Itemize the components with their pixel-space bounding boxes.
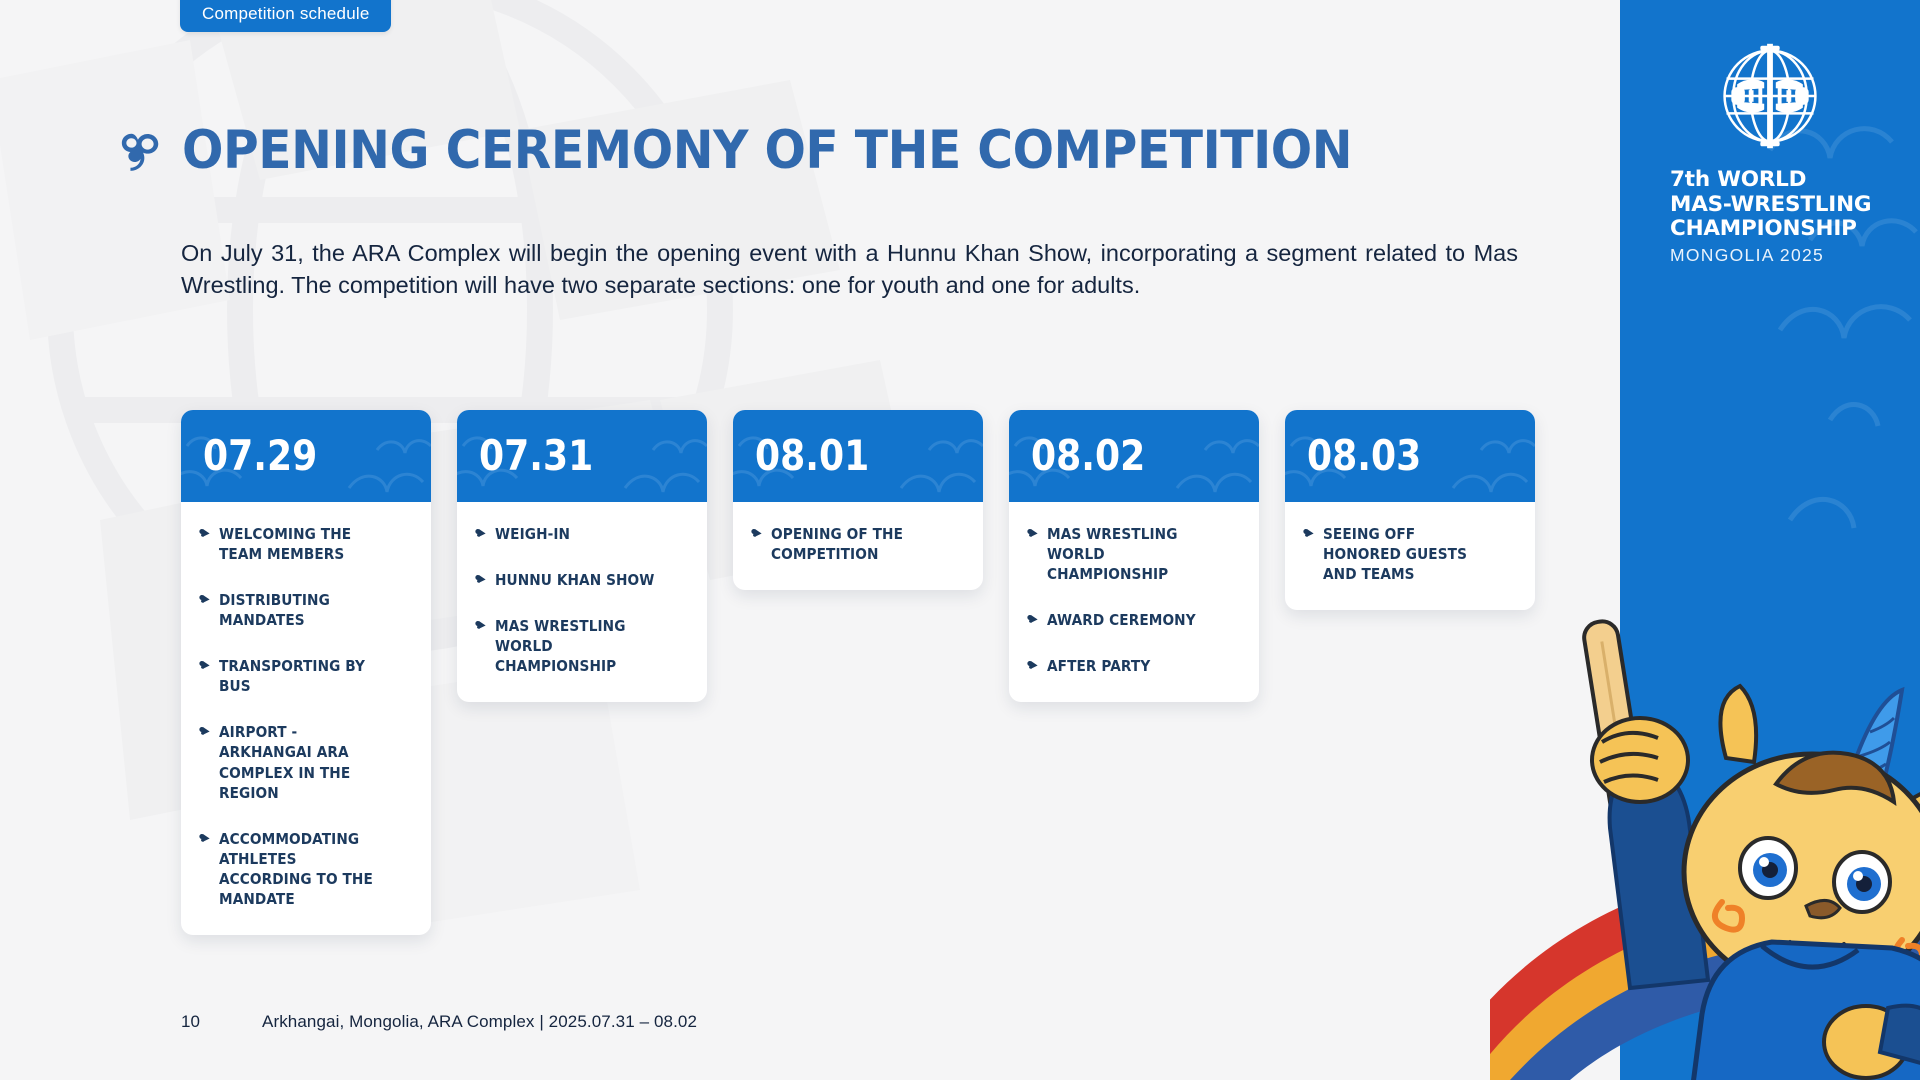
schedule-card[interactable]: 07.29 WELCOMING THE TEAM MEMBERS DISTRIB… (181, 410, 431, 935)
list-item: DISTRIBUTING MANDATES (199, 590, 413, 630)
card-body: MAS WRESTLING WORLD CHAMPIONSHIP AWARD C… (1009, 502, 1259, 702)
list-item-label: AWARD CEREMONY (1047, 610, 1222, 630)
tab-label: Competition schedule (202, 4, 369, 23)
swirl-bullet-icon (475, 620, 486, 631)
list-item-label: HUNNU KHAN SHOW (495, 570, 670, 590)
schedule-card-list: 07.29 WELCOMING THE TEAM MEMBERS DISTRIB… (181, 410, 1535, 935)
logo-line-4: MONGOLIA 2025 (1670, 245, 1871, 266)
swirl-bullet-icon (199, 833, 210, 844)
list-item-label: WELCOMING THE TEAM MEMBERS (219, 524, 394, 564)
list-item-label: TRANSPORTING BY BUS (219, 656, 394, 696)
slide-root: Competition schedule OPENING CEREMONY OF… (0, 0, 1920, 1080)
card-header: 08.01 (733, 410, 983, 502)
card-header: 08.03 (1285, 410, 1535, 502)
swirl-bullet-icon (1027, 528, 1038, 539)
list-item-label: AIRPORT - ARKHANGAI ARA COMPLEX IN THE R… (219, 722, 394, 802)
list-item: WEIGH-IN (475, 524, 689, 544)
card-body: OPENING OF THE COMPETITION (733, 502, 983, 590)
schedule-card[interactable]: 08.03 SEEING OFF HONORED GUESTS AND TEAM… (1285, 410, 1535, 610)
card-body: SEEING OFF HONORED GUESTS AND TEAMS (1285, 502, 1535, 610)
globe-mas-wrestling-emblem (1712, 38, 1828, 154)
mongolian-swirl-icon (118, 128, 164, 174)
list-item: OPENING OF THE COMPETITION (751, 524, 965, 564)
card-date: 07.29 (203, 435, 317, 477)
list-item: WELCOMING THE TEAM MEMBERS (199, 524, 413, 564)
card-header: 07.31 (457, 410, 707, 502)
card-date: 07.31 (479, 435, 593, 477)
swirl-bullet-icon (199, 594, 210, 605)
card-body: WEIGH-IN HUNNU KHAN SHOW MAS WRESTLING W… (457, 502, 707, 702)
card-date: 08.02 (1031, 435, 1145, 477)
list-item-label: AFTER PARTY (1047, 656, 1222, 676)
list-item: SEEING OFF HONORED GUESTS AND TEAMS (1303, 524, 1517, 584)
swirl-bullet-icon (199, 726, 210, 737)
list-item: AFTER PARTY (1027, 656, 1241, 676)
swirl-bullet-icon (1303, 528, 1314, 539)
logo-line-3: CHAMPIONSHIP (1670, 217, 1871, 242)
page-title: OPENING CEREMONY OF THE COMPETITION (182, 120, 1352, 181)
list-item: AIRPORT - ARKHANGAI ARA COMPLEX IN THE R… (199, 722, 413, 802)
list-item: HUNNU KHAN SHOW (475, 570, 689, 590)
list-item-label: ACCOMMODATING ATHLETES ACCORDING TO THE … (219, 829, 394, 909)
list-item: ACCOMMODATING ATHLETES ACCORDING TO THE … (199, 829, 413, 909)
page-number: 10 (181, 1012, 200, 1032)
list-item-label: MAS WRESTLING WORLD CHAMPIONSHIP (495, 616, 670, 676)
schedule-card[interactable]: 08.01 OPENING OF THE COMPETITION (733, 410, 983, 590)
body-paragraph: On July 31, the ARA Complex will begin t… (181, 238, 1518, 301)
schedule-card[interactable]: 08.02 MAS WRESTLING WORLD CHAMPIONSHIP A… (1009, 410, 1259, 702)
swirl-bullet-icon (475, 574, 486, 585)
card-date: 08.03 (1307, 435, 1421, 477)
logo-text: 7th WORLD MAS-WRESTLING CHAMPIONSHIP MON… (1646, 168, 1871, 266)
competition-schedule-tab[interactable]: Competition schedule (180, 0, 391, 32)
list-item: AWARD CEREMONY (1027, 610, 1241, 630)
card-header: 07.29 (181, 410, 431, 502)
card-body: WELCOMING THE TEAM MEMBERS DISTRIBUTING … (181, 502, 431, 935)
list-item-label: DISTRIBUTING MANDATES (219, 590, 394, 630)
list-item: MAS WRESTLING WORLD CHAMPIONSHIP (475, 616, 689, 676)
right-brand-panel: 7th WORLD MAS-WRESTLING CHAMPIONSHIP MON… (1620, 0, 1920, 1080)
schedule-card[interactable]: 07.31 WEIGH-IN HUNNU KHAN SHOW MAS WREST… (457, 410, 707, 702)
list-item: MAS WRESTLING WORLD CHAMPIONSHIP (1027, 524, 1241, 584)
swirl-bullet-icon (475, 528, 486, 539)
footer-caption: Arkhangai, Mongolia, ARA Complex | 2025.… (262, 1012, 697, 1032)
page-title-row: OPENING CEREMONY OF THE COMPETITION (118, 120, 1454, 181)
swirl-bullet-icon (199, 660, 210, 671)
logo-line-2: MAS-WRESTLING (1670, 193, 1871, 218)
list-item-label: SEEING OFF HONORED GUESTS AND TEAMS (1323, 524, 1498, 584)
swirl-bullet-icon (199, 528, 210, 539)
logo-line-1: 7th WORLD (1670, 168, 1871, 193)
list-item-label: WEIGH-IN (495, 524, 670, 544)
list-item-label: OPENING OF THE COMPETITION (771, 524, 946, 564)
swirl-bullet-icon (751, 528, 762, 539)
list-item-label: MAS WRESTLING WORLD CHAMPIONSHIP (1047, 524, 1222, 584)
card-header: 08.02 (1009, 410, 1259, 502)
list-item: TRANSPORTING BY BUS (199, 656, 413, 696)
card-date: 08.01 (755, 435, 869, 477)
swirl-bullet-icon (1027, 614, 1038, 625)
swirl-bullet-icon (1027, 660, 1038, 671)
championship-logo: 7th WORLD MAS-WRESTLING CHAMPIONSHIP MON… (1620, 38, 1920, 266)
